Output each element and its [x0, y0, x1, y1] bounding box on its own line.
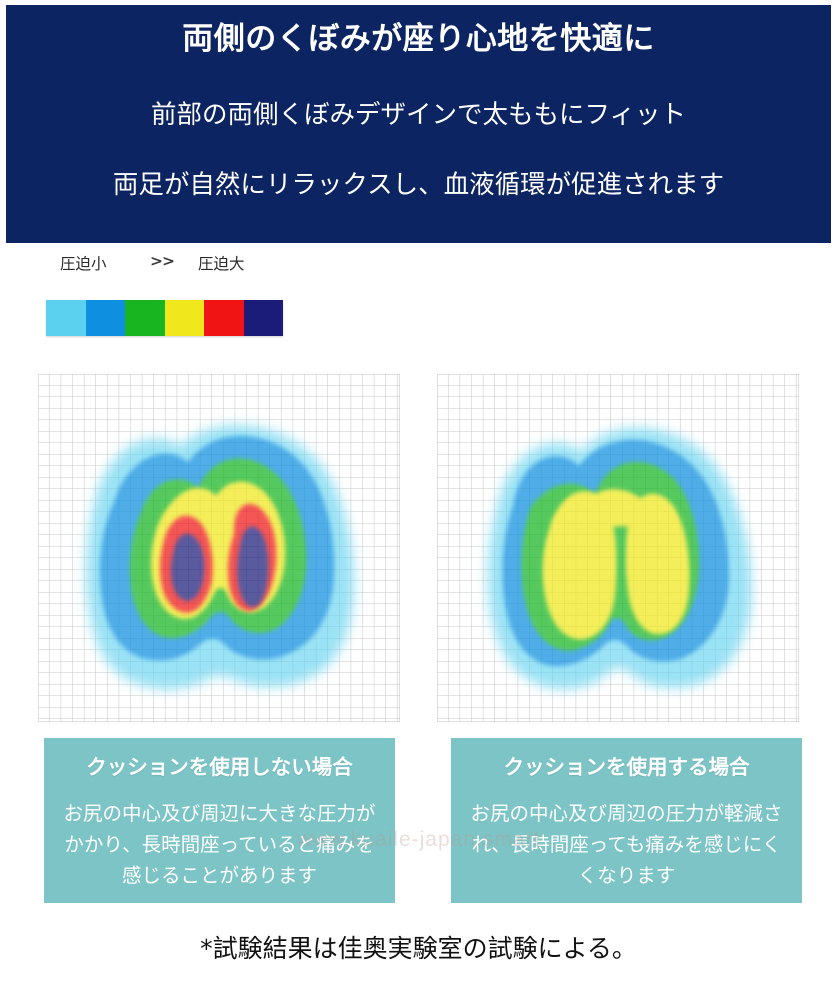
- caption-card-no-cushion: クッションを使用しない場合 お尻の中心及び周辺に大きな圧力がかかり、長時間座って…: [44, 738, 395, 903]
- legend-max-label: 圧迫大: [198, 252, 245, 274]
- legend-labels: 圧迫小 >> 圧迫大: [46, 252, 346, 280]
- legend-swatch-4: [165, 300, 205, 336]
- caption-title-with-cushion: クッションを使用する場合: [461, 752, 792, 782]
- page-root: 両側のくぼみが座り心地を快適に 前部の両側くぼみデザインで太ももにフィット 両足…: [0, 0, 837, 993]
- legend-arrow-icon: >>: [150, 252, 174, 270]
- pressure-map-with-cushion: [437, 374, 799, 722]
- caption-card-with-cushion: クッションを使用する場合 お尻の中心及び周辺の圧力が軽減され、長時間座っても痛み…: [451, 738, 802, 903]
- caption-body-no-cushion: お尻の中心及び周辺に大きな圧力がかかり、長時間座っていると痛みを感じることがあり…: [54, 798, 385, 891]
- banner-title: 両側のくぼみが座り心地を快適に: [182, 17, 655, 61]
- legend-min-label: 圧迫小: [60, 252, 107, 274]
- footnote-text: *試験結果は佳奥実験室の試験による。: [0, 929, 837, 965]
- pressure-map-with-cushion-svg: [437, 374, 799, 722]
- banner-subtitle-2: 両足が自然にリラックスし、血液循環が促進されます: [113, 167, 724, 203]
- legend-swatch-1: [46, 300, 86, 336]
- banner-subtitle-1: 前部の両側くぼみデザインで太ももにフィット: [151, 97, 686, 133]
- pressure-map-no-cushion-svg: [38, 374, 400, 722]
- legend-swatch-5: [204, 300, 244, 336]
- pressure-legend: 圧迫小 >> 圧迫大: [46, 252, 346, 280]
- caption-body-with-cushion: お尻の中心及び周辺の圧力が軽減され、長時間座っても痛みを感じにくくなります: [461, 798, 792, 891]
- legend-swatch-3: [125, 300, 165, 336]
- pressure-map-no-cushion: [38, 374, 400, 722]
- legend-swatch-6: [244, 300, 284, 336]
- caption-title-no-cushion: クッションを使用しない場合: [54, 752, 385, 782]
- legend-swatch-2: [86, 300, 126, 336]
- header-banner: 両側のくぼみが座り心地を快適に 前部の両側くぼみデザインで太ももにフィット 両足…: [6, 5, 831, 243]
- legend-colorbar: [46, 300, 283, 336]
